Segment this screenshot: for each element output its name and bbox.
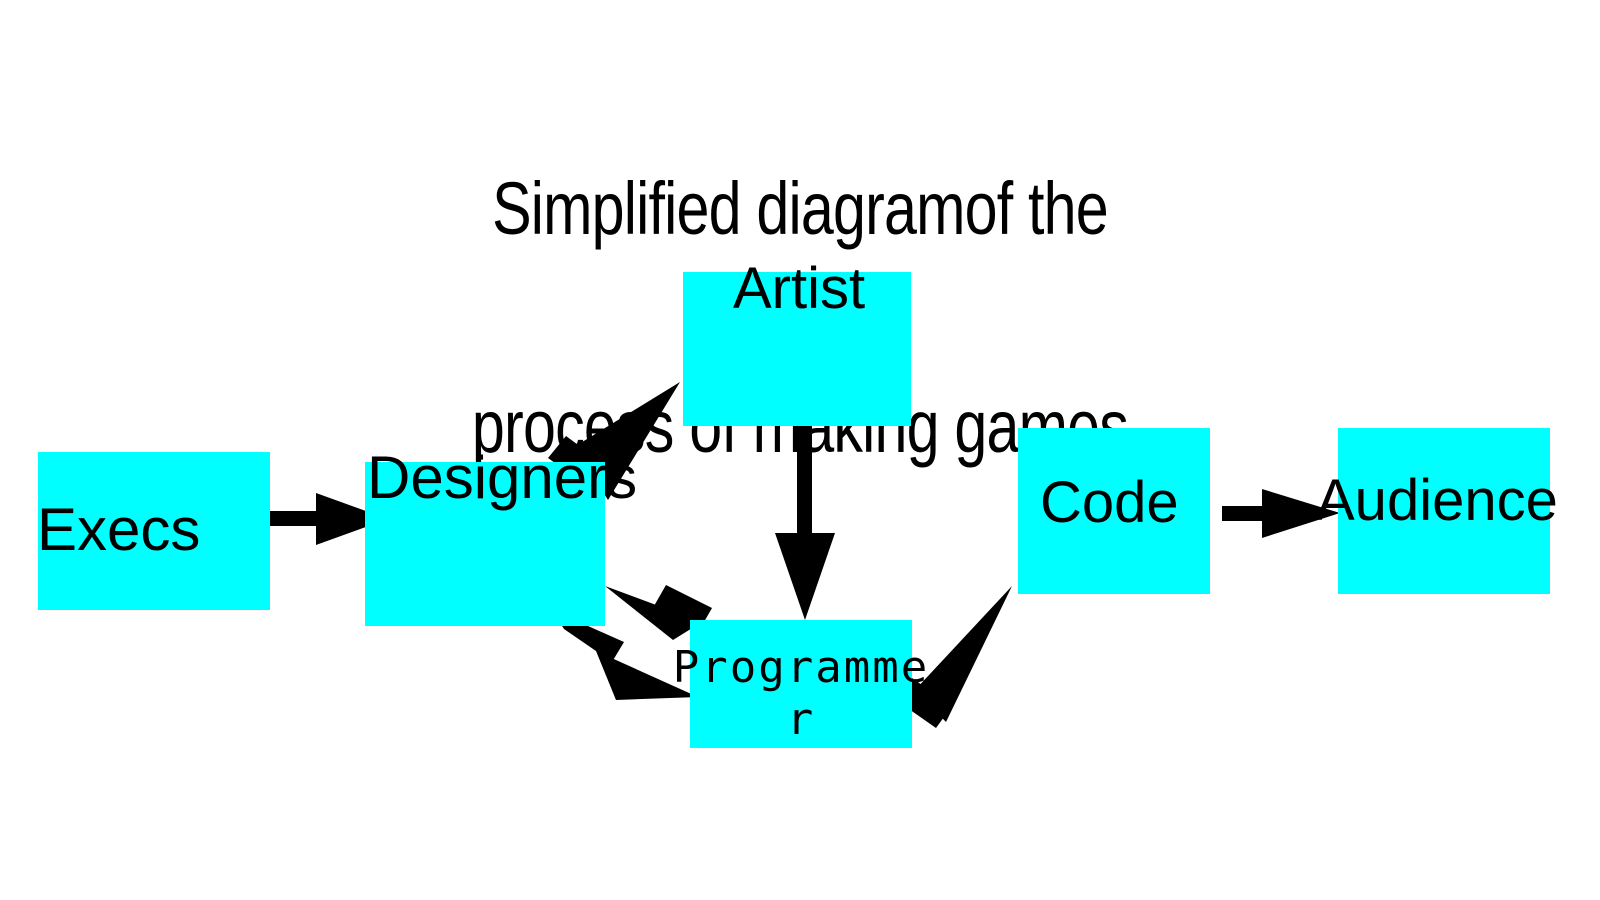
node-audience-label: Audience <box>1316 472 1558 530</box>
node-designers-label: Designers <box>367 448 637 508</box>
title-line-1: Simplified diagramof the <box>160 173 1440 246</box>
node-artist-label: Artist <box>733 260 865 318</box>
node-code[interactable]: Code <box>1018 428 1210 594</box>
node-execs-label: Execs <box>37 500 200 560</box>
node-execs[interactable]: Execs <box>38 452 270 610</box>
node-artist[interactable]: Artist <box>683 272 911 426</box>
node-designers[interactable]: Designers <box>365 462 605 626</box>
node-audience[interactable]: Audience <box>1338 428 1550 594</box>
diagram-canvas: Simplified diagramof the process of maki… <box>0 0 1600 900</box>
node-programmer-label: Programmer <box>672 642 930 746</box>
node-code-label: Code <box>1040 474 1179 532</box>
node-programmer[interactable]: Programmer <box>690 620 912 748</box>
